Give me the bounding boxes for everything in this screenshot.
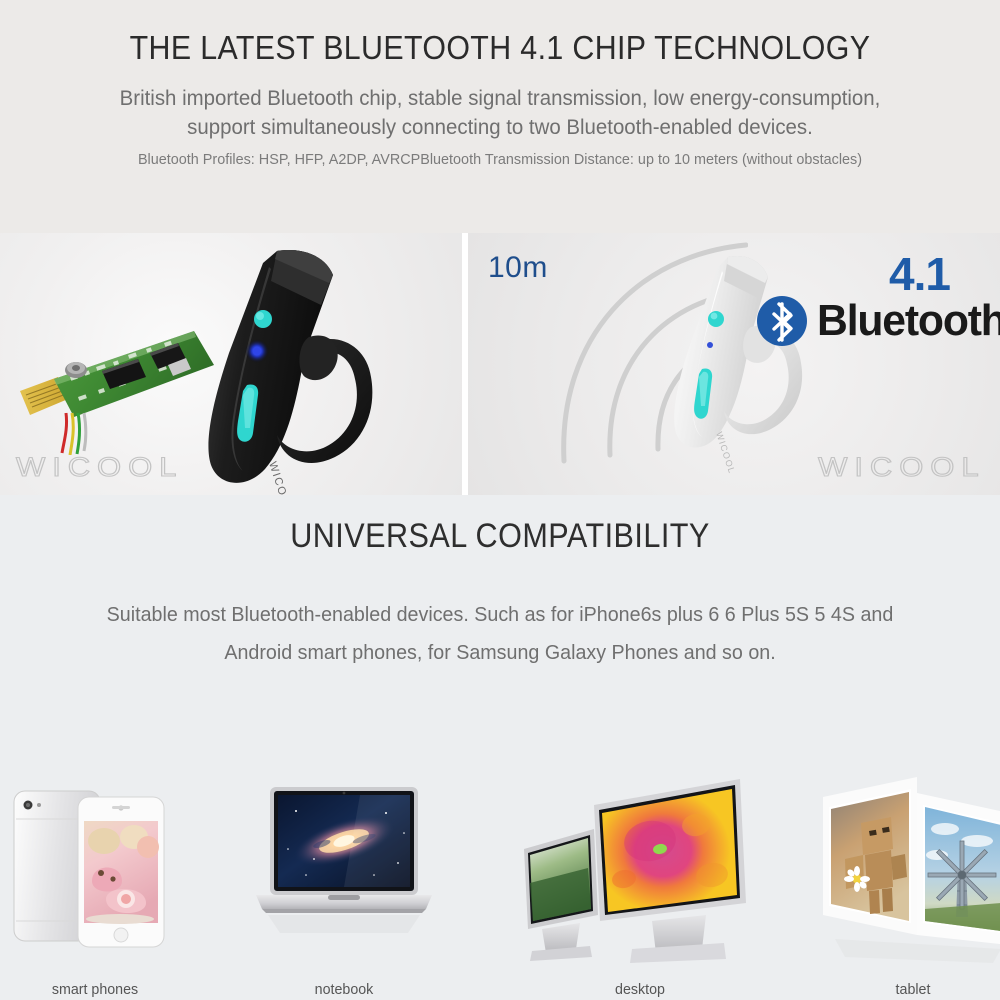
panel-black-earpiece: WICOOL WICOOL (0, 233, 462, 495)
lead-text-line-2: support simultaneously connecting to two… (25, 113, 975, 141)
caption-tablet: tablet (810, 981, 1000, 998)
smart-phones-image (0, 763, 190, 973)
bluetooth-logo: 4.1 Bluetooth® (756, 251, 986, 366)
device-gallery: smart phones notebook desktop tablet (0, 763, 1000, 1000)
bluetooth-icon (756, 295, 808, 347)
black-earpiece-image: WICOOL (185, 245, 445, 495)
desktop-image (520, 763, 760, 973)
page-title: THE LATEST BLUETOOTH 4.1 CHIP TECHNOLOGY (40, 30, 960, 66)
header-section: THE LATEST BLUETOOTH 4.1 CHIP TECHNOLOGY… (0, 0, 1000, 233)
transmission-distance-label: 10m (488, 251, 548, 285)
caption-desktop: desktop (526, 981, 754, 998)
product-photo-panels: WICOOL WICOOL 10m (0, 233, 1000, 495)
caption-smart-phones: smart phones (5, 981, 186, 998)
tablet-image (805, 763, 1000, 973)
bluetooth-spec-line: Bluetooth Profiles: HSP, HFP, A2DP, AVRC… (20, 151, 980, 168)
svg-text:WICOOL: WICOOL (266, 460, 294, 495)
panel-white-earpiece: 10m (468, 233, 1000, 495)
notebook-image (248, 763, 440, 973)
compatibility-line-2: Android smart phones, for Samsung Galaxy… (20, 634, 980, 672)
bluetooth-wordmark-row: Bluetooth® (756, 295, 1000, 347)
watermark-wicool-right: WICOOL (819, 452, 986, 483)
bluetooth-version-label: 4.1 (889, 251, 950, 297)
svg-text:WICOOL: WICOOL (714, 431, 737, 476)
bluetooth-wordmark: Bluetooth® (817, 299, 1000, 343)
compatibility-title: UNIVERSAL COMPATIBILITY (50, 517, 950, 556)
caption-notebook: notebook (253, 981, 435, 998)
compatibility-section: UNIVERSAL COMPATIBILITY Suitable most Bl… (0, 495, 1000, 1000)
watermark-wicool-left: WICOOL (16, 452, 183, 483)
compatibility-line-1: Suitable most Bluetooth-enabled devices.… (20, 596, 980, 634)
lead-text-line-1: British imported Bluetooth chip, stable … (25, 84, 975, 112)
